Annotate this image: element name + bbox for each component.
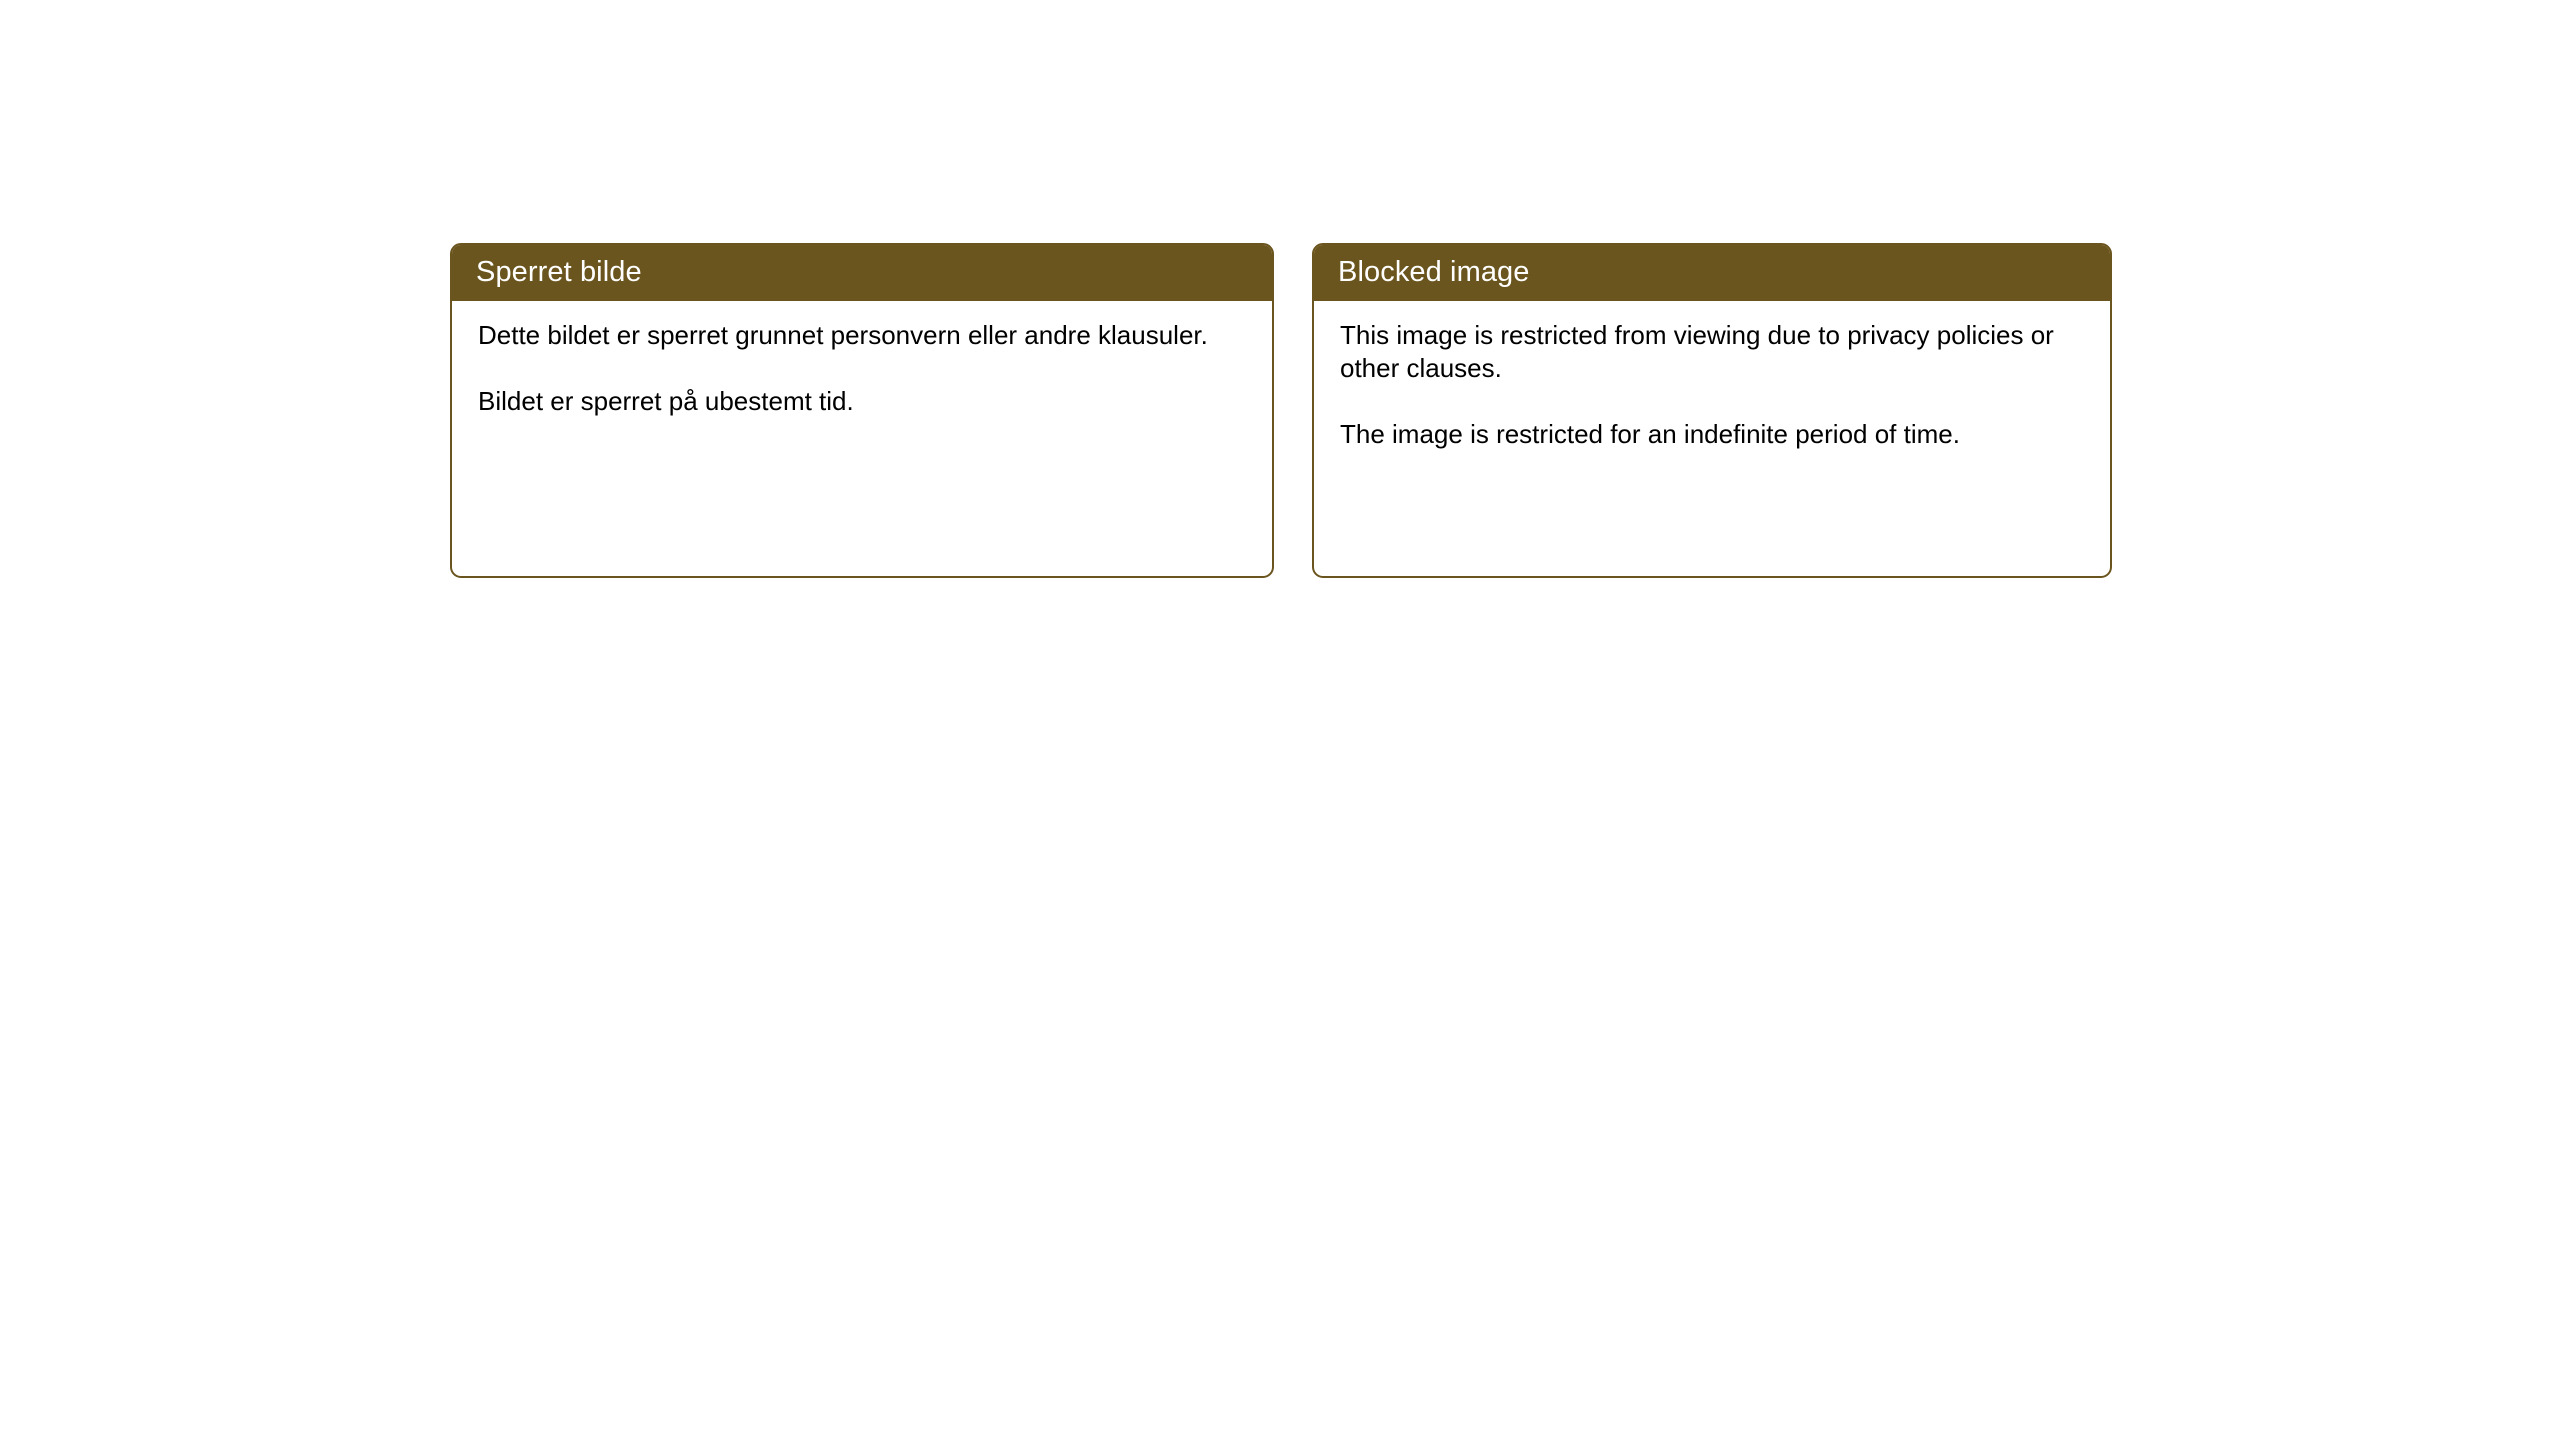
card-body-english: This image is restricted from viewing du…	[1314, 301, 2110, 451]
page-canvas: Sperret bilde Dette bildet er sperret gr…	[0, 0, 2560, 1440]
blocked-image-card-english: Blocked image This image is restricted f…	[1312, 243, 2112, 578]
card-paragraph-secondary-english: The image is restricted for an indefinit…	[1340, 418, 2075, 451]
card-header-norwegian: Sperret bilde	[450, 243, 1274, 301]
card-header-english: Blocked image	[1312, 243, 2112, 301]
card-paragraph-primary-norwegian: Dette bildet er sperret grunnet personve…	[478, 319, 1238, 352]
card-body-norwegian: Dette bildet er sperret grunnet personve…	[452, 301, 1272, 418]
card-title-norwegian: Sperret bilde	[476, 258, 642, 287]
card-paragraph-primary-english: This image is restricted from viewing du…	[1340, 319, 2075, 385]
card-paragraph-secondary-norwegian: Bildet er sperret på ubestemt tid.	[478, 385, 1238, 418]
card-title-english: Blocked image	[1338, 258, 1530, 287]
blocked-image-card-norwegian: Sperret bilde Dette bildet er sperret gr…	[450, 243, 1274, 578]
